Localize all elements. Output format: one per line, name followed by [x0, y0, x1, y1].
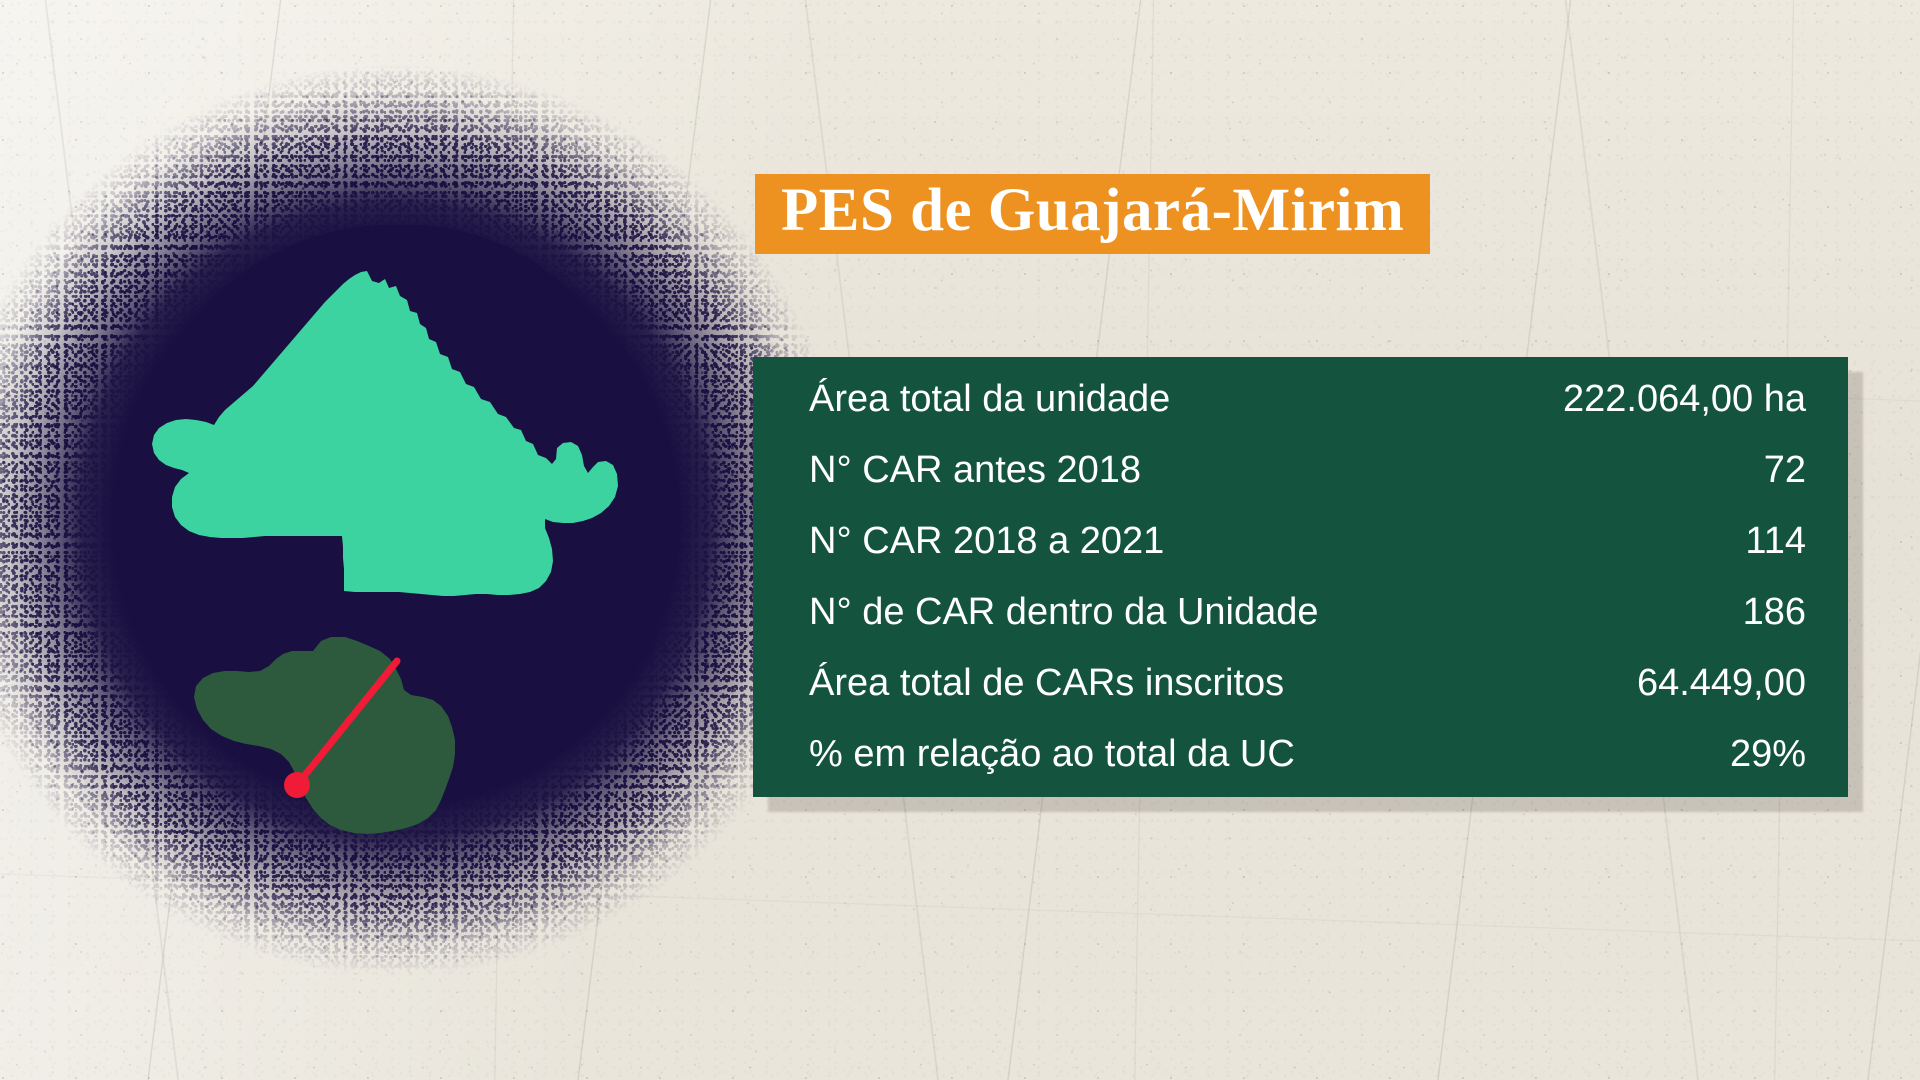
page-title: PES de Guajará-Mirim: [781, 180, 1404, 242]
infographic-root: PES de Guajará-Mirim Área total da unida…: [0, 0, 1920, 1080]
row-label: N° CAR 2018 a 2021: [809, 521, 1164, 562]
row-value: 222.064,00 ha: [1533, 379, 1806, 420]
statistics-panel: Área total da unidade 222.064,00 ha N° C…: [753, 357, 1848, 797]
table-row: N° CAR antes 2018 72: [809, 450, 1806, 491]
row-label: % em relação ao total da UC: [809, 734, 1295, 775]
table-row: Área total da unidade 222.064,00 ha: [809, 379, 1806, 420]
table-row: Área total de CARs inscritos 64.449,00: [809, 663, 1806, 704]
table-row: N° CAR 2018 a 2021 114: [809, 521, 1806, 562]
row-label: N° CAR antes 2018: [809, 450, 1141, 491]
row-label: Área total de CARs inscritos: [809, 663, 1284, 704]
row-value: 72: [1734, 450, 1806, 491]
row-value: 29%: [1700, 734, 1806, 775]
table-row: % em relação ao total da UC 29%: [809, 734, 1806, 775]
row-value: 64.449,00: [1607, 663, 1806, 704]
row-value: 114: [1715, 521, 1806, 562]
row-label: Área total da unidade: [809, 379, 1170, 420]
row-label: N° de CAR dentro da Unidade: [809, 592, 1319, 633]
table-row: N° de CAR dentro da Unidade 186: [809, 592, 1806, 633]
page-title-band: PES de Guajará-Mirim: [755, 174, 1430, 254]
row-value: 186: [1713, 592, 1806, 633]
